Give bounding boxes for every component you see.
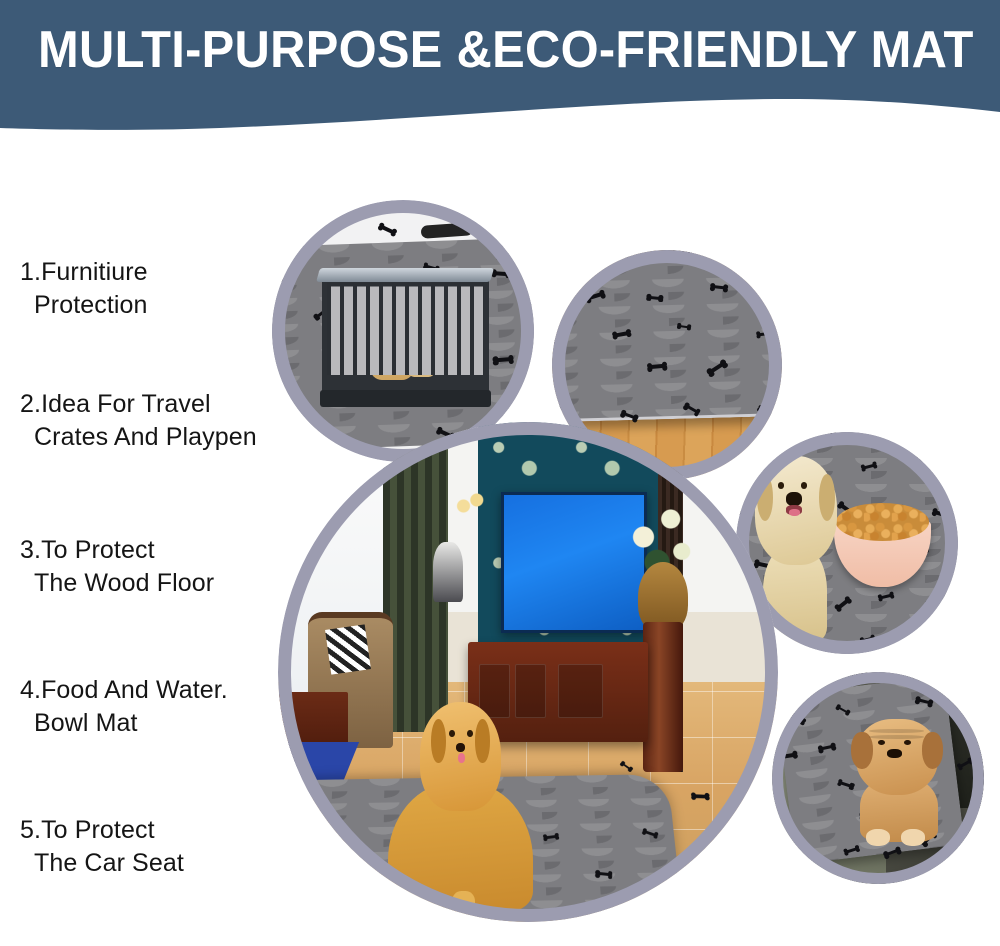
bone-print: [520, 300, 534, 311]
bone-print: [802, 676, 817, 683]
feature-2-line1: Idea For Travel: [41, 390, 211, 418]
bone-print: [756, 329, 773, 338]
vase-pedestal: [643, 622, 683, 772]
retriever-nose: [456, 743, 465, 752]
bone-print: [682, 401, 701, 416]
page-title: MULTI-PURPOSE &ECO-FRIENDLY MAT: [38, 20, 922, 80]
dog-ear-right: [819, 474, 835, 522]
feature-1-line2: Protection: [20, 289, 292, 322]
retriever-head: [420, 702, 501, 811]
bone-print: [492, 269, 511, 278]
bone-print: [619, 409, 638, 422]
bone-print: [859, 634, 875, 643]
bone-print: [915, 455, 933, 464]
dog-eye-left: [778, 482, 785, 488]
scene-car-seat: [772, 672, 984, 884]
puppy-wrinkle-2: [869, 735, 923, 739]
puppy-paw-left: [866, 829, 890, 846]
feature-3-line1: To Protect: [41, 536, 155, 564]
bone-print: [834, 703, 850, 715]
feature-2-line2: Crates And Playpen: [20, 421, 292, 454]
bone-print: [914, 695, 933, 707]
feature-5-line1: To Protect: [41, 816, 155, 844]
bone-print: [611, 328, 631, 339]
bordeaux-puppy: [853, 719, 946, 842]
bone-print: [311, 838, 334, 855]
bone-print: [274, 276, 293, 284]
bone-print: [755, 254, 770, 264]
photo-clip-car-seat: [772, 672, 984, 884]
bone-print: [778, 750, 798, 761]
feature-item-1: 1.Furnitiure Protection: [20, 256, 292, 322]
bone-print: [377, 222, 398, 237]
bone-print: [757, 405, 773, 418]
bone-print: [691, 792, 710, 800]
header-banner: MULTI-PURPOSE &ECO-FRIENDLY MAT: [0, 0, 1000, 140]
retriever-tongue: [458, 753, 465, 763]
photo-clip-living-room: [278, 422, 778, 922]
bone-print: [780, 432, 797, 433]
bone-print: [614, 250, 629, 259]
dog-nose: [786, 492, 802, 506]
table-lamp: [453, 482, 488, 542]
puppy-nose: [887, 749, 902, 758]
bone-print: [847, 672, 866, 679]
bone-print: [931, 508, 952, 521]
feature-4-line1: Food And Water.: [41, 676, 228, 704]
bone-print: [552, 336, 561, 346]
retriever-paw-right: [452, 891, 475, 916]
crate-top-panel: [316, 268, 495, 282]
dog-eye-right: [801, 482, 808, 488]
bone-print: [619, 760, 633, 772]
feature-3-number: 3.: [20, 536, 41, 564]
bone-print: [646, 362, 667, 372]
bone-print: [709, 283, 728, 292]
crate-base-tray: [320, 390, 491, 407]
infographic-page: MULTI-PURPOSE &ECO-FRIENDLY MAT 1.Furnit…: [0, 0, 1000, 946]
bone-print: [642, 828, 659, 839]
decor-bust: [433, 542, 463, 602]
bone-print: [672, 250, 693, 257]
bone-print: [817, 742, 836, 753]
feature-item-5: 5.To Protect The Car Seat: [20, 814, 292, 880]
bone-print: [542, 833, 559, 841]
puppy-ear-right: [922, 732, 943, 769]
bone-print: [916, 632, 931, 640]
retriever-eye-left: [449, 730, 455, 737]
photo-circle-car-seat: [772, 672, 984, 884]
bone-print: [938, 586, 958, 600]
bone-print: [493, 355, 515, 365]
feature-item-3: 3.To Protect The Wood Floor: [20, 534, 292, 600]
bone-print: [928, 672, 951, 677]
puppy-eye-left: [878, 740, 885, 745]
bone-print: [584, 289, 606, 303]
kibble-pile: [836, 503, 929, 541]
bone-print: [776, 282, 782, 300]
bone-print: [677, 323, 692, 331]
bone-print: [842, 845, 860, 856]
puppy-head: [856, 719, 938, 795]
console-cabinet: [558, 664, 603, 718]
bone-print: [515, 230, 534, 244]
bone-print: [294, 806, 308, 818]
puppy-eye-right: [904, 740, 911, 745]
checker-pillow: [325, 624, 371, 674]
photo-circle-living-room: [278, 422, 778, 922]
puppy-paw-right: [901, 829, 925, 846]
feature-5-line2: The Car Seat: [20, 847, 292, 880]
feature-4-number: 4.: [20, 676, 41, 704]
golden-retriever-lying: [388, 702, 533, 912]
bone-print: [877, 591, 894, 601]
feature-5-number: 5.: [20, 816, 41, 844]
crate-crossbar: [327, 283, 485, 375]
scene-living-room: [278, 422, 778, 922]
mat-corner-on-wood: [552, 250, 782, 422]
bone-print: [552, 403, 564, 411]
bone-print: [956, 757, 973, 771]
feature-2-number: 2.: [20, 390, 41, 418]
retriever-paw-left: [411, 891, 434, 916]
bone-print: [945, 698, 964, 715]
bone-print: [595, 869, 613, 878]
bone-pattern-wood: [552, 250, 782, 439]
bone-print: [307, 236, 325, 249]
bone-print: [956, 638, 958, 654]
retriever-ear-right: [475, 719, 490, 763]
puppy-wrinkle-1: [869, 729, 923, 733]
retriever-ear-left: [431, 719, 446, 763]
bone-print: [705, 359, 728, 378]
feature-item-4: 4.Food And Water. Bowl Mat: [20, 674, 292, 740]
retriever-eye-right: [467, 730, 473, 737]
feature-1-number: 1.: [20, 258, 41, 286]
bone-print: [962, 822, 984, 838]
bone-print: [558, 259, 574, 269]
bone-print: [827, 432, 848, 439]
bone-print: [882, 846, 901, 859]
puppy-ear-left: [851, 732, 872, 769]
feature-1-line1: Furnitiure: [41, 258, 148, 286]
bone-print: [860, 461, 877, 472]
bone-print: [789, 712, 806, 725]
feature-item-2: 2.Idea For Travel Crates And Playpen: [20, 388, 292, 454]
feature-4-line2: Bowl Mat: [20, 707, 292, 740]
feature-3-line2: The Wood Floor: [20, 567, 292, 600]
bone-print: [646, 294, 664, 303]
dog-tongue: [789, 509, 800, 515]
dog-crate: [322, 276, 490, 397]
